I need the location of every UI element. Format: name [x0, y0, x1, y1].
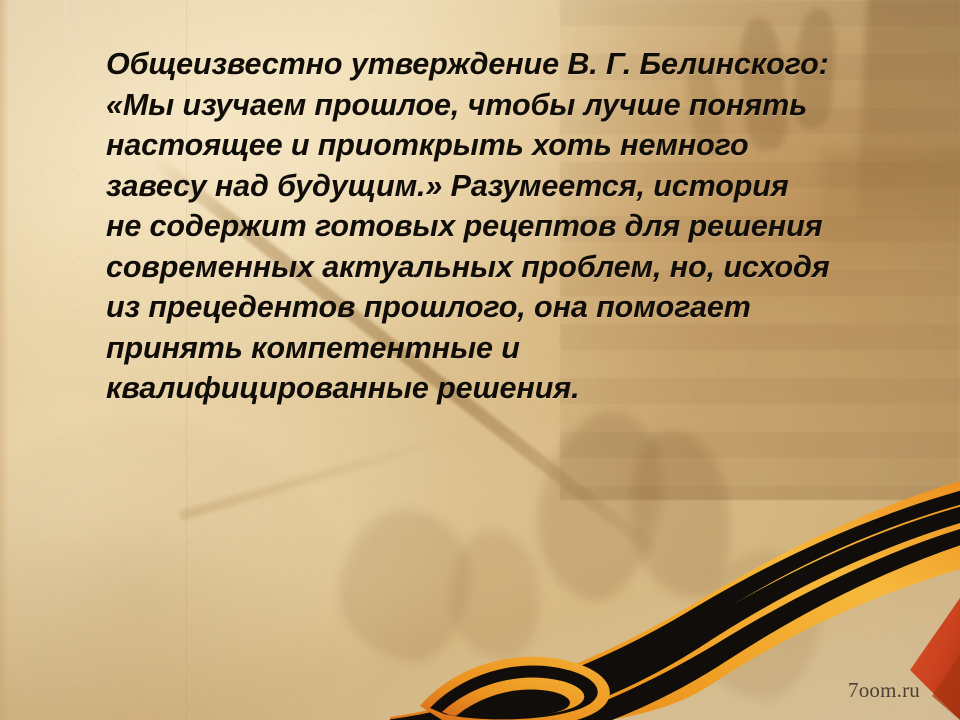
quote-line: современных актуальных проблем, но, исхо…: [106, 247, 896, 288]
background-flag-raising-scene: [300, 400, 820, 720]
watermark-7oom-ru: 7oom.ru: [848, 678, 920, 703]
slide-canvas: Общеизвестно утверждение В. Г. Белинског…: [0, 0, 960, 720]
quote-line: настоящее и приоткрыть хоть немного: [106, 125, 896, 166]
quote-line: «Мы изучаем прошлое, чтобы лучше понять: [106, 85, 896, 126]
quote-line: завесу над будущим.» Разумеется, история: [106, 166, 896, 207]
quote-text-block: Общеизвестно утверждение В. Г. Белинског…: [106, 44, 896, 409]
quote-line: квалифицированные решения.: [106, 368, 896, 409]
quote-line: Общеизвестно утверждение В. Г. Белинског…: [106, 44, 896, 85]
quote-line: принять компетентные и: [106, 328, 896, 369]
quote-line: из прецедентов прошлого, она помогает: [106, 287, 896, 328]
quote-line: не содержит готовых рецептов для решения: [106, 206, 896, 247]
